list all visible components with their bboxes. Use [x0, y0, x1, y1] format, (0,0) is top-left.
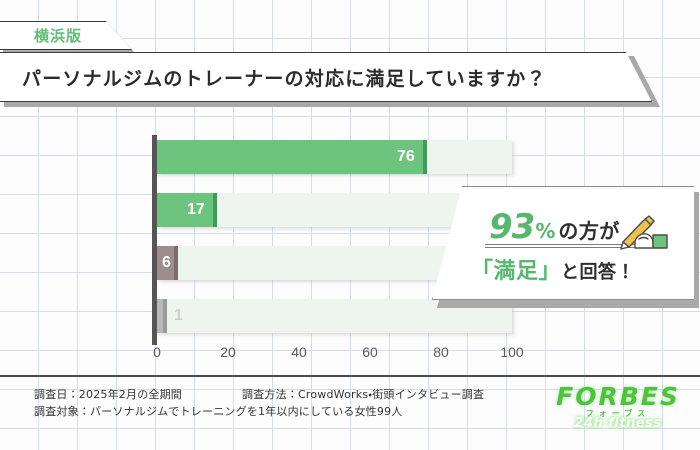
header-banner-body: パーソナルジムのトレーナーの対応に満足していますか？ — [0, 52, 652, 102]
edition-tab: 横浜版 — [0, 21, 135, 51]
bar-value-2: 6 — [162, 246, 171, 280]
x-axis: 0 20 40 60 80 100 — [157, 340, 517, 366]
bar-0 — [157, 140, 427, 174]
x-tick-2: 40 — [291, 344, 307, 360]
hand-writing-pencil-icon — [615, 209, 675, 251]
header-banner: パーソナルジムのトレーナーの対応に満足していますか？ — [0, 52, 660, 104]
footer-row-2: 調査対象：パーソナルジムでトレーニングを1年以内にしている女性99人 — [34, 403, 484, 420]
bar-value-1: 17 — [187, 193, 205, 227]
survey-target: 調査対象：パーソナルジムでトレーニングを1年以内にしている女性99人 — [34, 403, 402, 420]
highlight-callout: 93 % の方が 「満足」と回答！ — [432, 186, 700, 308]
bar-cap-0 — [423, 140, 427, 174]
bar-value-3: 1 — [174, 299, 183, 333]
logo-wordmark: FORBES — [548, 382, 688, 411]
page-title: パーソナルジムのトレーナーの対応に満足していますか？ — [22, 64, 547, 91]
x-tick-1: 20 — [220, 344, 236, 360]
x-tick-3: 60 — [362, 344, 378, 360]
callout-body: 93 % の方が 「満足」と回答！ — [432, 186, 694, 300]
bar-cap-1 — [213, 193, 217, 227]
bar-3 — [157, 299, 167, 333]
bar-cap-2 — [174, 246, 178, 280]
callout-percent-symbol: % — [535, 219, 555, 243]
brand-logo: FORBES フォーブス 24h fitness — [548, 382, 688, 430]
chart-row: 非常に満足 76 — [157, 140, 512, 174]
x-tick-4: 80 — [433, 344, 449, 360]
edition-tab-body: 横浜版 — [0, 21, 132, 50]
survey-method: 調査方法：CrowdWorks・街頭インタビュー調査 — [242, 386, 484, 403]
edition-tab-label: 横浜版 — [34, 25, 82, 46]
callout-line-1: 93 % の方が — [489, 207, 620, 247]
infographic-page: 横浜版 パーソナルジムのトレーナーの対応に満足していますか？ 非常に満足 76 … — [0, 0, 700, 450]
callout-percent-value: 93 — [489, 207, 534, 247]
x-tick-0: 0 — [153, 344, 161, 360]
bar-value-0: 76 — [397, 140, 415, 174]
footer-notes: 調査日：2025年2月の全期間 調査方法：CrowdWorks・街頭インタビュー… — [34, 386, 484, 420]
footer-divider — [0, 375, 700, 377]
logo-tagline: 24h fitness — [548, 416, 688, 431]
callout-answer-tail: と回答！ — [561, 262, 635, 283]
callout-suffix: の方が — [558, 215, 620, 244]
footer-row-1: 調査日：2025年2月の全期間 調査方法：CrowdWorks・街頭インタビュー… — [34, 386, 484, 403]
callout-answer: 「満足」 — [471, 259, 561, 284]
callout-line-2: 「満足」と回答！ — [471, 253, 635, 285]
bar-cap-3 — [163, 299, 167, 333]
x-tick-5: 100 — [500, 344, 523, 360]
survey-date: 調査日：2025年2月の全期間 — [34, 386, 242, 403]
